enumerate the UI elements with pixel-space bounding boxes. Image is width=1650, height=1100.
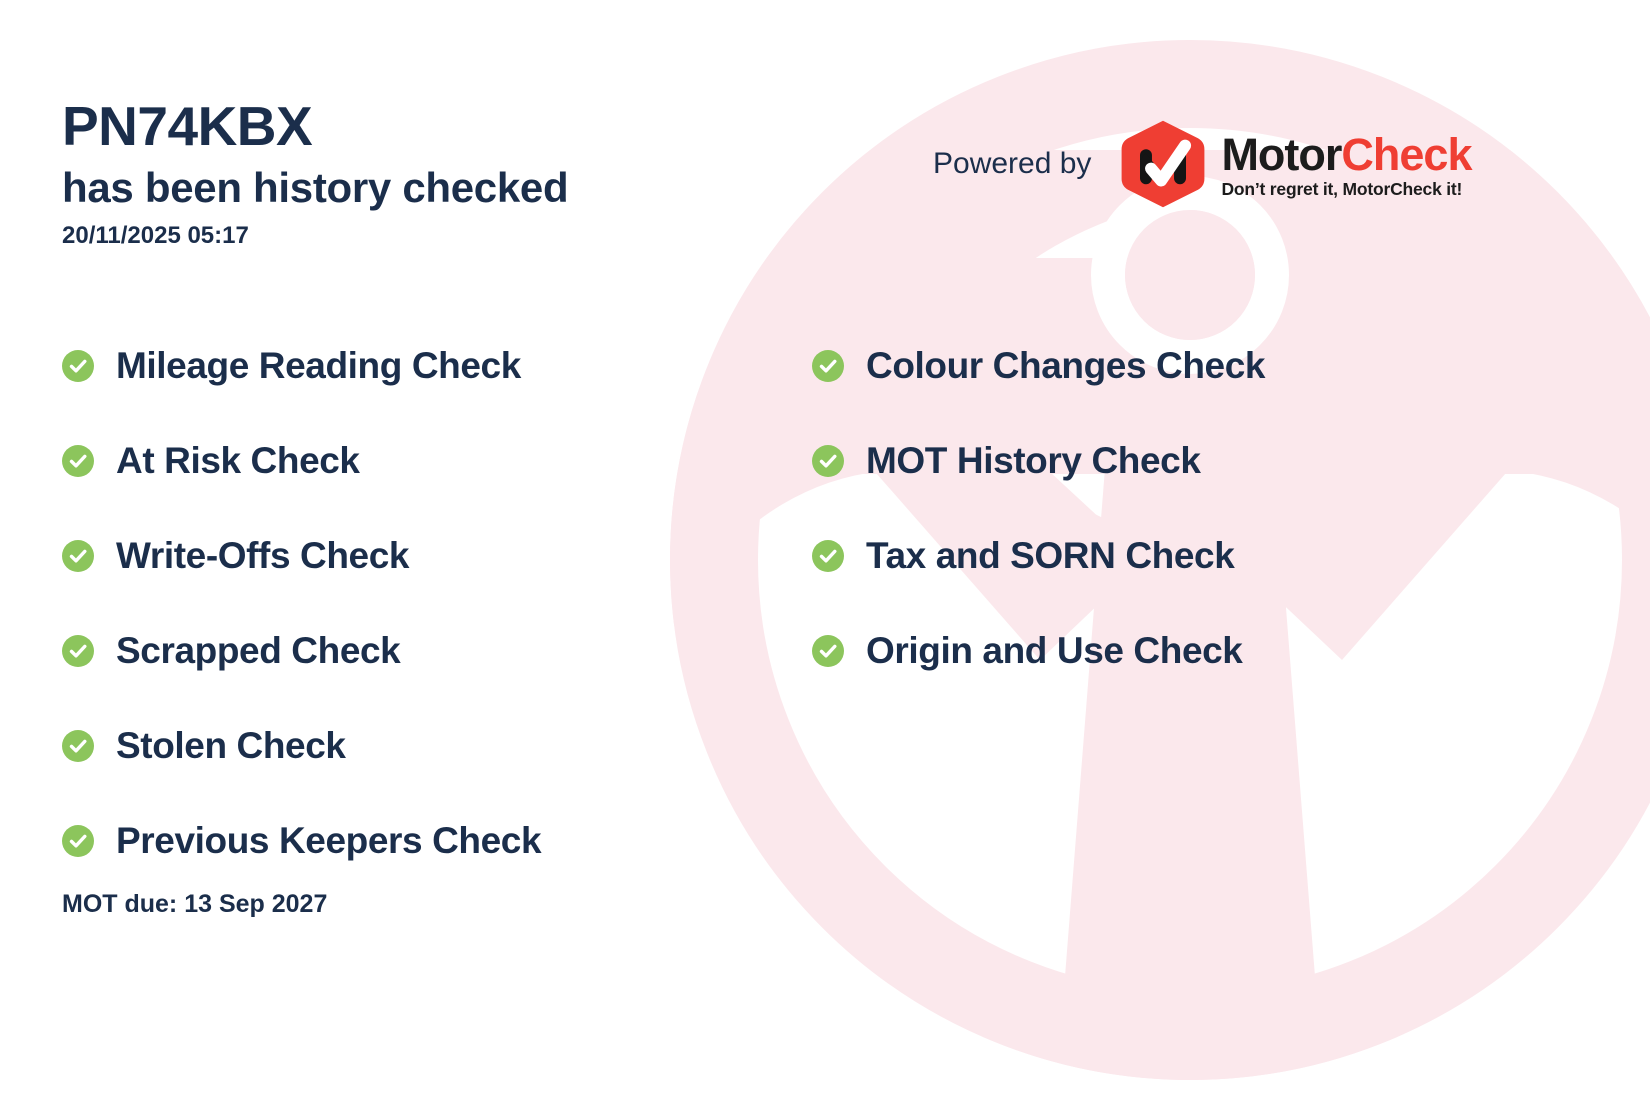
wordmark-motor: Motor <box>1221 129 1341 180</box>
check-circle-icon <box>62 445 94 477</box>
check-item-label: Colour Changes Check <box>866 347 1265 384</box>
motorcheck-wordmark: MotorCheck <box>1221 132 1471 177</box>
card-content: PN74KBX has been history checked 20/11/2… <box>0 0 1650 1100</box>
check-timestamp: 20/11/2025 05:17 <box>62 222 568 250</box>
check-item-label: At Risk Check <box>116 442 360 479</box>
check-circle-icon <box>812 350 844 382</box>
check-item-origin-and-use: Origin and Use Check <box>812 603 1265 698</box>
check-item-previous-keepers: Previous Keepers Check <box>62 793 541 888</box>
check-circle-icon <box>812 445 844 477</box>
powered-by-block: Powered by MotorCheck Don’t regret it, M… <box>933 118 1471 210</box>
checks-left-column: Mileage Reading Check At Risk Check Writ… <box>62 318 541 888</box>
check-circle-icon <box>812 540 844 572</box>
check-item-colour-changes: Colour Changes Check <box>812 318 1265 413</box>
mot-due-text: MOT due: 13 Sep 2027 <box>62 890 327 919</box>
powered-by-label: Powered by <box>933 147 1091 181</box>
check-circle-icon <box>62 350 94 382</box>
check-circle-icon <box>62 540 94 572</box>
vehicle-history-check-card: PN74KBX has been history checked 20/11/2… <box>0 0 1650 1100</box>
motorcheck-hexagon-icon <box>1117 118 1209 210</box>
check-circle-icon <box>62 825 94 857</box>
check-item-at-risk: At Risk Check <box>62 413 541 508</box>
check-item-label: Tax and SORN Check <box>866 537 1234 574</box>
wordmark-check: Check <box>1341 129 1471 180</box>
check-item-scrapped: Scrapped Check <box>62 603 541 698</box>
check-item-mileage-reading: Mileage Reading Check <box>62 318 541 413</box>
check-circle-icon <box>62 635 94 667</box>
check-circle-icon <box>62 730 94 762</box>
header-block: PN74KBX has been history checked 20/11/2… <box>62 98 568 250</box>
motorcheck-tagline: Don’t regret it, MotorCheck it! <box>1221 181 1471 199</box>
check-item-stolen: Stolen Check <box>62 698 541 793</box>
check-item-label: Previous Keepers Check <box>116 822 541 859</box>
check-item-label: Scrapped Check <box>116 632 400 669</box>
motorcheck-logo-lockup[interactable]: MotorCheck Don’t regret it, MotorCheck i… <box>1117 118 1471 210</box>
registration-plate-title: PN74KBX <box>62 98 568 156</box>
check-circle-icon <box>812 635 844 667</box>
motorcheck-wordmark-block: MotorCheck Don’t regret it, MotorCheck i… <box>1221 132 1471 199</box>
check-item-label: MOT History Check <box>866 442 1201 479</box>
check-item-label: Origin and Use Check <box>866 632 1243 669</box>
check-item-mot-history: MOT History Check <box>812 413 1265 508</box>
check-item-label: Write-Offs Check <box>116 537 409 574</box>
check-item-label: Stolen Check <box>116 727 346 764</box>
check-item-label: Mileage Reading Check <box>116 347 521 384</box>
page-subtitle: has been history checked <box>62 162 568 215</box>
check-item-write-offs: Write-Offs Check <box>62 508 541 603</box>
checks-right-column: Colour Changes Check MOT History Check T… <box>812 318 1265 698</box>
check-item-tax-and-sorn: Tax and SORN Check <box>812 508 1265 603</box>
